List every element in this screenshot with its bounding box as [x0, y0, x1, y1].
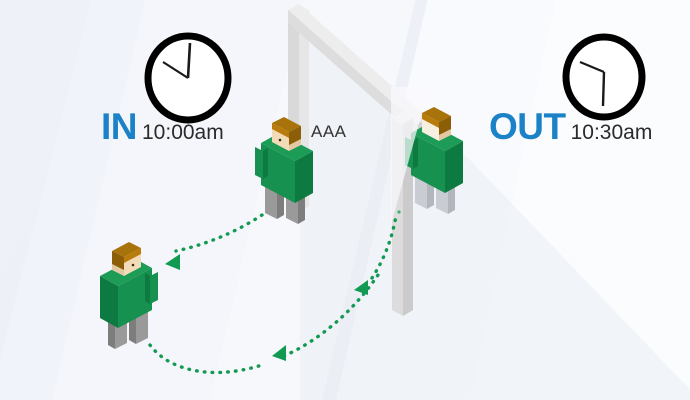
arm-left-side: [263, 148, 268, 179]
scene-canvas: IN 10:00am OUT 10:30am AAA: [0, 0, 690, 400]
out-clock: [566, 37, 642, 117]
arm-left-front: [150, 272, 158, 304]
arm-left-front: [255, 147, 263, 179]
eye-dot: [279, 139, 282, 142]
out-clock-minute-hand: [603, 72, 604, 106]
out-time: 10:30am: [571, 122, 653, 143]
in-time: 10:00am: [142, 122, 224, 143]
in-label-group: IN 10:00am: [101, 108, 224, 145]
arm-left-side: [145, 273, 150, 304]
out-label-group: OUT 10:30am: [489, 108, 652, 145]
in-label: IN: [101, 108, 137, 145]
scene-artwork: [0, 0, 690, 400]
out-label: OUT: [489, 108, 566, 145]
person-tag-label: AAA: [311, 122, 347, 142]
eye-dot: [132, 264, 135, 267]
path-end-dot: [397, 210, 400, 213]
arm-left-side: [413, 138, 418, 169]
